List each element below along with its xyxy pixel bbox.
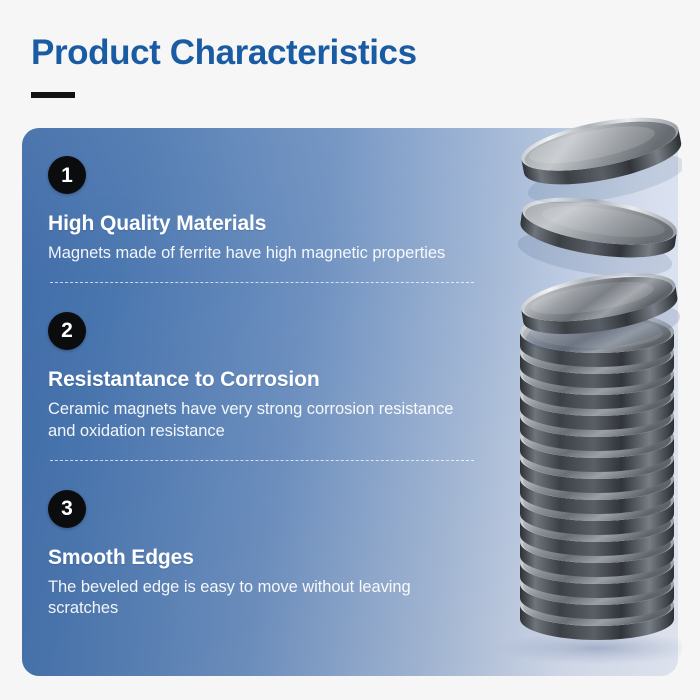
- feature-description-1: Magnets made of ferrite have high magnet…: [48, 243, 478, 265]
- feature-list: 1 High Quality Materials Magnets made of…: [48, 140, 518, 633]
- feature-block-3: 3 Smooth Edges The beveled edge is easy …: [48, 474, 518, 634]
- feature-description-2: Ceramic magnets have very strong corrosi…: [48, 399, 478, 443]
- feature-number-badge-3: 3: [48, 490, 86, 528]
- feature-card: 1 High Quality Materials Magnets made of…: [22, 128, 678, 676]
- title-accent-bar: [31, 92, 75, 98]
- feature-divider-2: [50, 460, 474, 461]
- feature-title-2: Resistantance to Corrosion: [48, 368, 518, 392]
- feature-divider-1: [50, 282, 474, 283]
- feature-number-badge-1: 1: [48, 156, 86, 194]
- page-header: Product Characteristics: [31, 34, 651, 98]
- feature-description-3: The beveled edge is easy to move without…: [48, 577, 478, 621]
- feature-title-1: High Quality Materials: [48, 212, 518, 236]
- feature-number-badge-2: 2: [48, 312, 86, 350]
- feature-block-1: 1 High Quality Materials Magnets made of…: [48, 140, 518, 296]
- page-title: Product Characteristics: [31, 34, 651, 73]
- feature-block-2: 2 Resistantance to Corrosion Ceramic mag…: [48, 296, 518, 474]
- feature-title-3: Smooth Edges: [48, 546, 518, 570]
